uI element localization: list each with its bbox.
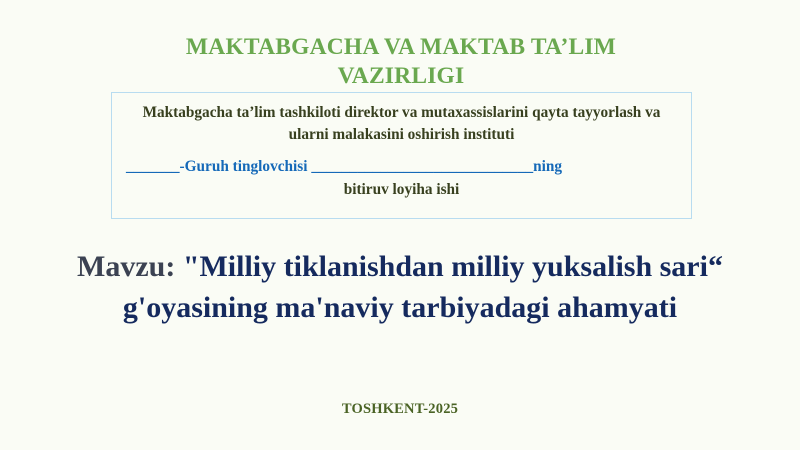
topic-text: "Milliy tiklanishdan milliy yuksalish sa… xyxy=(123,250,723,324)
ministry-title-line-1: MAKTABGACHA VA MAKTAB TA’LIM xyxy=(110,33,692,62)
institute-info-box: Maktabgacha ta’lim tashkiloti direktor v… xyxy=(111,92,692,219)
listener-name-blank[interactable]: _____________________________ xyxy=(311,158,533,175)
listener-label: -Guruh tinglovchisi xyxy=(180,158,308,175)
slide-canvas: MAKTABGACHA VA MAKTAB TA’LIM VAZIRLIGI M… xyxy=(0,0,800,450)
listener-group-line: _______-Guruh tinglovchisi _____________… xyxy=(122,156,681,178)
topic-heading: Mavzu: "Milliy tiklanishdan milliy yuksa… xyxy=(56,246,744,328)
footer-city-year: TOSHKENT-2025 xyxy=(0,401,800,418)
topic-label: Mavzu: xyxy=(77,250,175,283)
listener-suffix: ning xyxy=(533,158,562,175)
institute-name-line-1: Maktabgacha ta’lim tashkiloti direktor v… xyxy=(143,104,569,121)
institute-name: Maktabgacha ta’lim tashkiloti direktor v… xyxy=(122,102,681,146)
project-type-line: bitiruv loyiha ishi xyxy=(122,179,681,201)
ministry-title-line-2: VAZIRLIGI xyxy=(110,62,692,91)
group-number-blank[interactable]: _______ xyxy=(126,158,180,175)
ministry-title: MAKTABGACHA VA MAKTAB TA’LIM VAZIRLIGI xyxy=(110,33,692,91)
